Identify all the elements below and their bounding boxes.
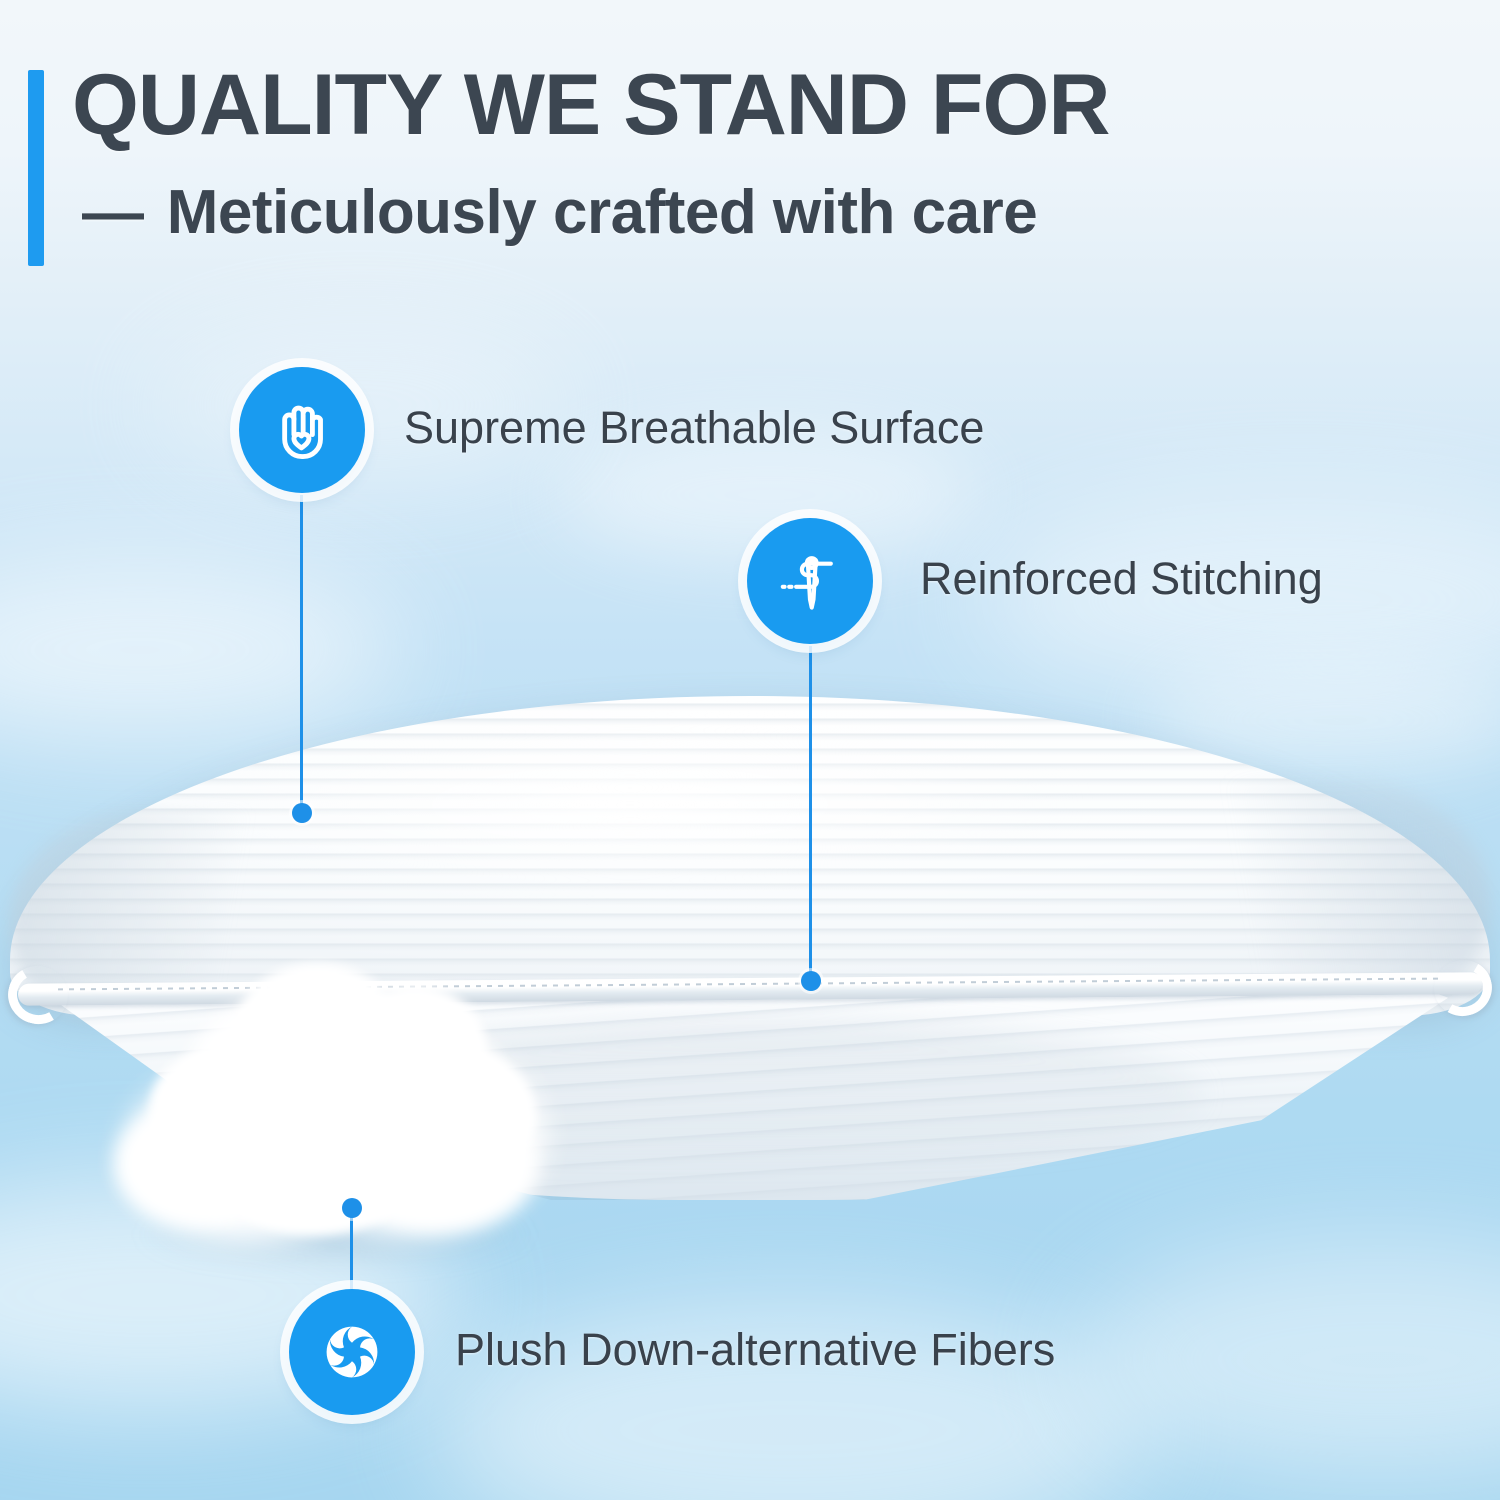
leader-dot-breathable [292,803,312,823]
header-block: QUALITY WE STAND FOR — Meticulously craf… [0,0,1500,300]
page-title: QUALITY WE STAND FOR [72,62,1109,148]
callout-badge-fibers[interactable] [289,1289,415,1415]
fiber-cluster [95,955,565,1265]
leader-dot-stitching [801,971,821,991]
callout-badge-breathable[interactable] [239,367,365,493]
fiber-swirl-icon [315,1315,389,1389]
callout-label-fibers: Plush Down-alternative Fibers [455,1327,1055,1372]
hand-heart-icon [265,393,339,467]
needle-thread-icon [773,544,847,618]
page-subtitle: — Meticulously crafted with care [82,182,1037,244]
accent-bar [28,70,44,266]
leader-line-stitching [809,646,812,980]
callout-label-breathable: Supreme Breathable Surface [404,405,984,450]
subtitle-dash: — [82,178,150,247]
fiber-puff [215,1115,415,1235]
callout-label-stitching: Reinforced Stitching [920,556,1323,601]
infographic-canvas: QUALITY WE STAND FOR — Meticulously craf… [0,0,1500,1500]
subtitle-text: Meticulously crafted with care [167,178,1037,247]
callout-badge-stitching[interactable] [747,518,873,644]
leader-line-breathable [300,495,303,813]
leader-dot-fibers [342,1198,362,1218]
leader-line-fibers [350,1208,353,1291]
pillow-highlight [180,720,1080,890]
